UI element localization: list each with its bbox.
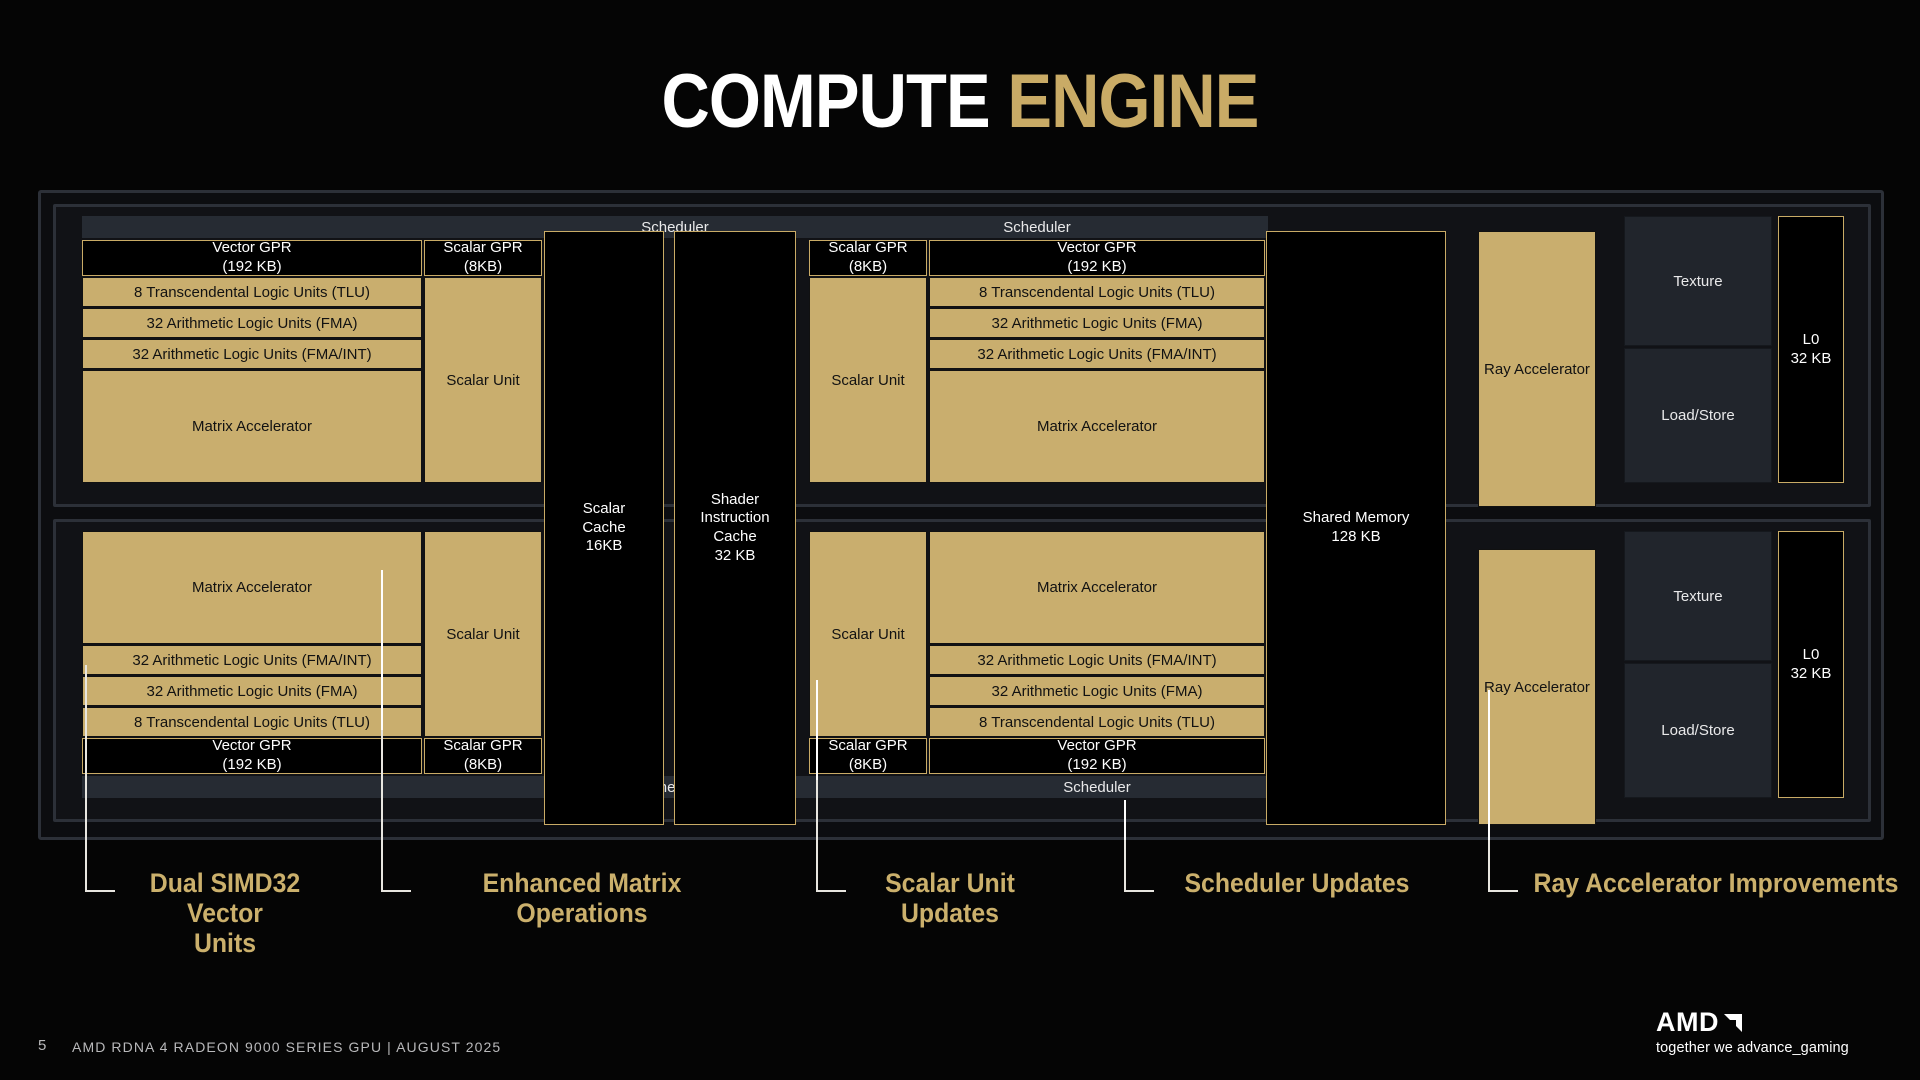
callout-line1: Scalar Unit (853, 868, 1046, 898)
scalar-cache: Scalar Cache 16KB (544, 231, 664, 825)
scalar-unit-top-right: Scalar Unit (809, 277, 927, 483)
texture-top: Texture (1624, 216, 1772, 346)
shader-cache-l4: 32 KB (715, 547, 756, 566)
scheduler-bar-bottom-right: Scheduler (929, 776, 1265, 798)
scalar-cache-l3: 16KB (586, 537, 623, 556)
scalar-gpr-bottom-left: Scalar GPR (8KB) (424, 738, 542, 774)
callout-line1: Ray Accelerator Improvements (1532, 868, 1900, 898)
shared-memory: Shared Memory 128 KB (1266, 231, 1446, 825)
callout-line2: Units (119, 928, 331, 958)
shared-memory-size: 128 KB (1331, 528, 1380, 547)
scalar-cache-l2: Cache (582, 519, 625, 538)
page-title: COMPUTE ENGINE (115, 58, 1805, 145)
vector-gpr-bottom-right: Vector GPR (192 KB) (929, 738, 1265, 774)
scalar-gpr-size: (8KB) (849, 258, 887, 277)
callout-dual-simd32-vector-units: Dual SIMD32 Vector Units (119, 868, 331, 959)
shader-cache-l2: Instruction (700, 509, 769, 528)
texture-bottom: Texture (1624, 531, 1772, 661)
l0-label: L0 (1803, 646, 1820, 665)
ray-accelerator-top: Ray Accelerator (1478, 231, 1596, 507)
matrix-accelerator-bottom-left: Matrix Accelerator (82, 531, 422, 644)
tlu-bottom-left: 8 Transcendental Logic Units (TLU) (82, 707, 422, 737)
matrix-accelerator-bottom-right: Matrix Accelerator (929, 531, 1265, 644)
l0-size: 32 KB (1791, 350, 1832, 369)
scalar-gpr-label: Scalar GPR (828, 239, 907, 258)
shader-cache-l1: Shader (711, 491, 759, 510)
load-store-top: Load/Store (1624, 348, 1772, 483)
scalar-cache-l1: Scalar (583, 500, 626, 519)
scalar-gpr-label: Scalar GPR (443, 239, 522, 258)
scalar-unit-top-left: Scalar Unit (424, 277, 542, 483)
leader-line-scalar-inner (816, 680, 818, 780)
vector-gpr-bottom-left: Vector GPR (192 KB) (82, 738, 422, 774)
vector-gpr-label: Vector GPR (1057, 239, 1136, 258)
scalar-unit-bottom-right: Scalar Unit (809, 531, 927, 737)
scalar-gpr-top-right: Scalar GPR (8KB) (809, 240, 927, 276)
footer-text: AMD RDNA 4 RADEON 9000 SERIES GPU | AUGU… (72, 1039, 501, 1055)
scalar-gpr-size: (8KB) (464, 756, 502, 775)
slide-number: 5 (38, 1037, 47, 1054)
scalar-gpr-top-left: Scalar GPR (8KB) (424, 240, 542, 276)
scalar-unit-bottom-left: Scalar Unit (424, 531, 542, 737)
cu-row-top: Scheduler Vector GPR (192 KB) 8 Transcen… (53, 204, 1871, 507)
vector-gpr-size: (192 KB) (222, 756, 281, 775)
scalar-gpr-size: (8KB) (849, 756, 887, 775)
vector-gpr-top-left: Vector GPR (192 KB) (82, 240, 422, 276)
callout-scalar-unit-updates: Scalar Unit Updates (853, 868, 1046, 928)
fma-top-right: 32 Arithmetic Logic Units (FMA) (929, 308, 1265, 338)
ray-accelerator-bottom: Ray Accelerator (1478, 549, 1596, 825)
scheduler-bar-top-right: Scheduler (809, 216, 1265, 238)
fma-top-left: 32 Arithmetic Logic Units (FMA) (82, 308, 422, 338)
callout-line1: Scheduler Updates (1164, 868, 1431, 898)
vector-gpr-size: (192 KB) (222, 258, 281, 277)
tlu-bottom-right: 8 Transcendental Logic Units (TLU) (929, 707, 1265, 737)
leader-line-ray-inner (1488, 690, 1490, 840)
vector-gpr-label: Vector GPR (212, 737, 291, 756)
matrix-accelerator-top-right: Matrix Accelerator (929, 370, 1265, 483)
amd-wordmark: AMD (1656, 1007, 1886, 1038)
scalar-gpr-bottom-right: Scalar GPR (8KB) (809, 738, 927, 774)
scalar-gpr-size: (8KB) (464, 258, 502, 277)
l0-cache-bottom: L0 32 KB (1778, 531, 1844, 798)
vector-gpr-label: Vector GPR (212, 239, 291, 258)
shared-memory-label: Shared Memory (1303, 509, 1410, 528)
matrix-accelerator-top-left: Matrix Accelerator (82, 370, 422, 483)
leader-line-scalar-unit (816, 780, 846, 892)
vector-gpr-top-right: Vector GPR (192 KB) (929, 240, 1265, 276)
callout-line1: Dual SIMD32 Vector (119, 868, 331, 928)
vector-gpr-size: (192 KB) (1067, 258, 1126, 277)
fmaint-bottom-right: 32 Arithmetic Logic Units (FMA/INT) (929, 645, 1265, 675)
title-part-engine: ENGINE (1007, 59, 1258, 144)
l0-cache-top: L0 32 KB (1778, 216, 1844, 483)
vector-gpr-size: (192 KB) (1067, 756, 1126, 775)
leader-line-scheduler-updates (1124, 840, 1154, 892)
leader-line-scheduler-inner (1124, 800, 1126, 840)
leader-line-ray-accelerator (1488, 840, 1518, 892)
load-store-bottom: Load/Store (1624, 663, 1772, 798)
fma-bottom-right: 32 Arithmetic Logic Units (FMA) (929, 676, 1265, 706)
fmaint-bottom-left: 32 Arithmetic Logic Units (FMA/INT) (82, 645, 422, 675)
slide: COMPUTE ENGINE Scheduler Vector GPR (192… (0, 0, 1920, 1080)
tlu-top-left: 8 Transcendental Logic Units (TLU) (82, 277, 422, 307)
leader-line-enhanced-matrix (381, 730, 411, 892)
leader-line-matrix-inner (381, 570, 383, 730)
fmaint-top-left: 32 Arithmetic Logic Units (FMA/INT) (82, 339, 422, 369)
title-part-compute: COMPUTE (661, 59, 989, 144)
l0-label: L0 (1803, 331, 1820, 350)
scalar-gpr-label: Scalar GPR (443, 737, 522, 756)
cu-row-bottom: Matrix Accelerator 32 Arithmetic Logic U… (53, 519, 1871, 822)
callout-line1: Enhanced Matrix Operations (426, 868, 739, 928)
callout-scheduler-updates: Scheduler Updates (1164, 868, 1431, 898)
vector-gpr-label: Vector GPR (1057, 737, 1136, 756)
shader-instruction-cache: Shader Instruction Cache 32 KB (674, 231, 796, 825)
shader-cache-l3: Cache (713, 528, 756, 547)
amd-tagline: together we advance_gaming (1656, 1040, 1886, 1056)
callout-line2: Updates (853, 898, 1046, 928)
amd-arrow-icon (1722, 1012, 1744, 1034)
l0-size: 32 KB (1791, 665, 1832, 684)
scalar-gpr-label: Scalar GPR (828, 737, 907, 756)
compute-engine-diagram: Scheduler Vector GPR (192 KB) 8 Transcen… (38, 190, 1884, 840)
amd-wordmark-text: AMD (1656, 1007, 1719, 1038)
tlu-top-right: 8 Transcendental Logic Units (TLU) (929, 277, 1265, 307)
leader-line-dual-simd32 (85, 665, 115, 892)
amd-logo: AMD together we advance_gaming (1656, 1007, 1886, 1056)
callout-ray-accelerator-improvements: Ray Accelerator Improvements (1532, 868, 1900, 898)
callout-enhanced-matrix-operations: Enhanced Matrix Operations (426, 868, 739, 928)
fmaint-top-right: 32 Arithmetic Logic Units (FMA/INT) (929, 339, 1265, 369)
fma-bottom-left: 32 Arithmetic Logic Units (FMA) (82, 676, 422, 706)
